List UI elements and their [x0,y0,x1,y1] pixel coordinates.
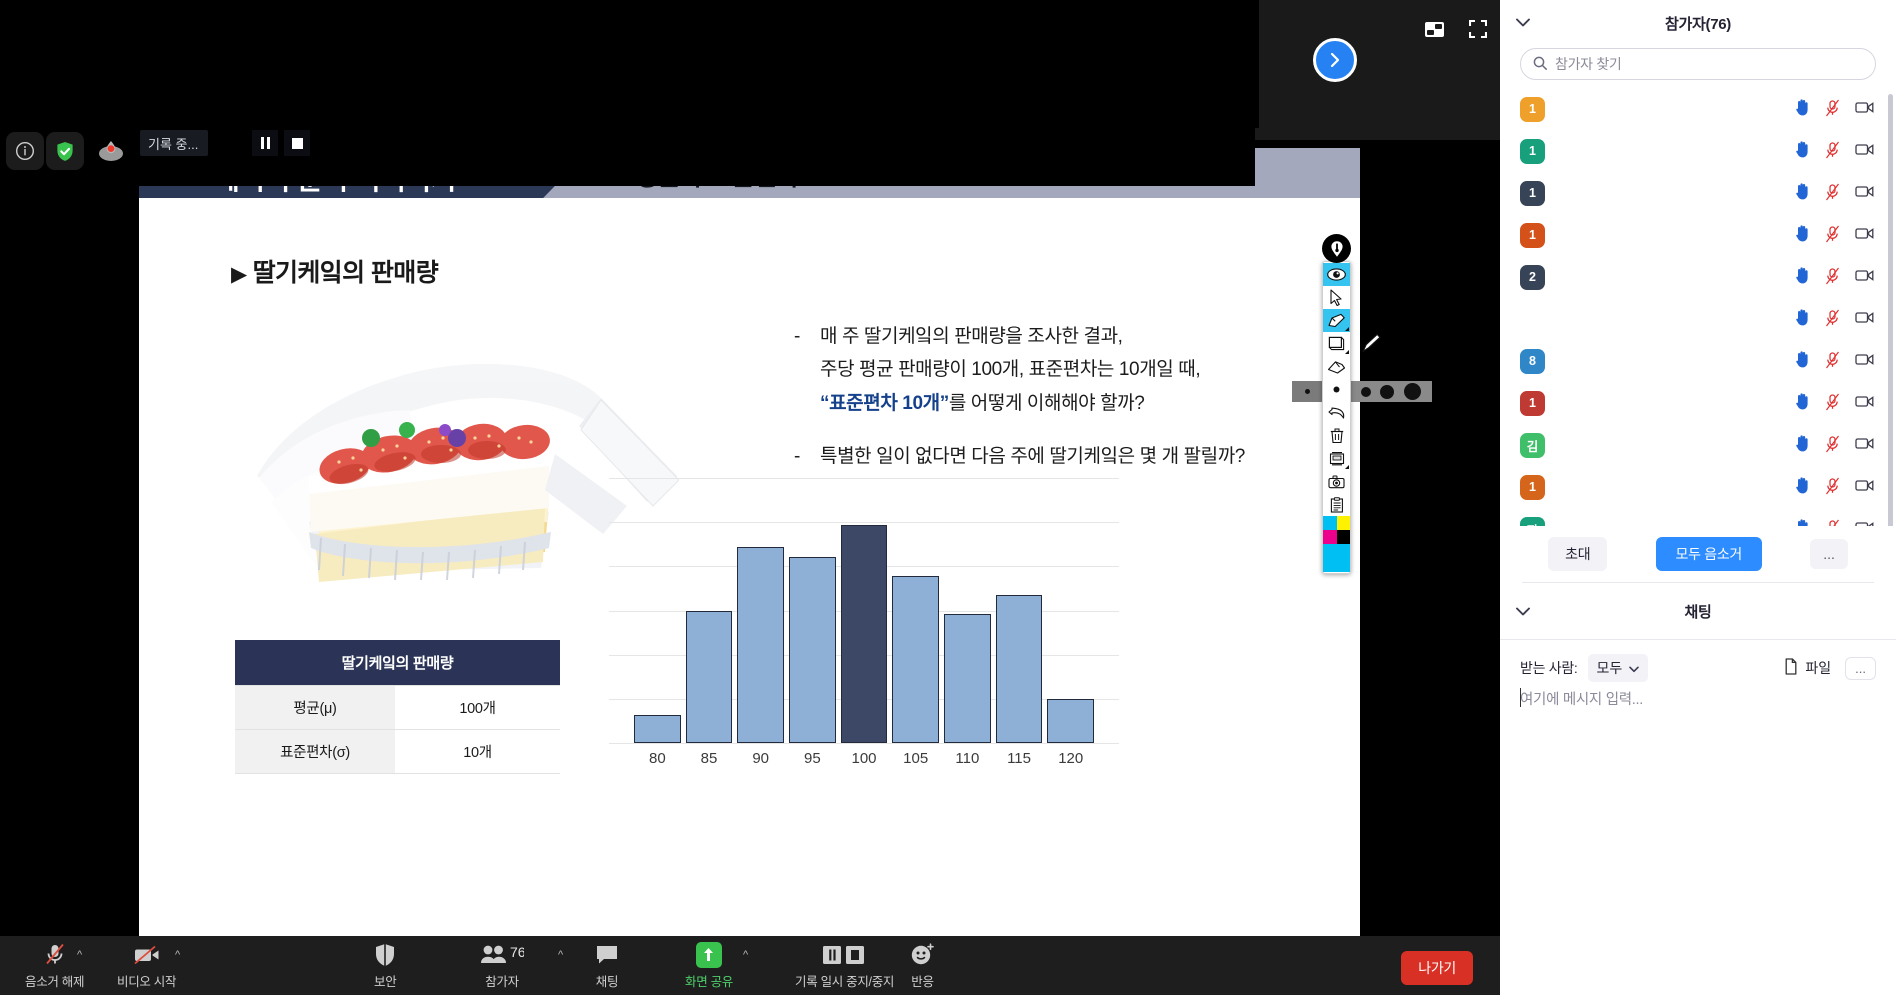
participant-row[interactable]: 1 [1500,382,1896,424]
avatar: 2 [1520,265,1545,290]
participant-status-icons [1795,309,1874,330]
chat-more-button[interactable]: ... [1845,657,1876,680]
chevron-up-icon[interactable]: ^ [175,949,180,961]
swatch-current[interactable] [1323,544,1350,572]
chart-x-tick: 85 [686,750,733,767]
chevron-down-icon[interactable] [1516,603,1530,619]
participant-row[interactable]: 김 [1500,424,1896,466]
meeting-control-bar: 음소거 해제 ^ 비디오 시작 ^ 보안 76 참가자 [0,936,1500,995]
dot-size-icon[interactable] [1323,378,1350,401]
table-cell-value: 10개 [395,730,560,774]
control-participants-label: 참가자 [485,971,519,990]
raised-hand-icon[interactable] [1795,99,1810,119]
table-row: 표준편차(σ) 10개 [235,730,560,774]
participant-status-icons [1795,351,1874,372]
slide-heading-text: 딸기케잌의 판매량 [253,259,439,287]
avatar: 1 [1520,97,1545,122]
annotation-toolbar[interactable] [1322,261,1351,574]
raised-hand-icon[interactable] [1795,351,1810,371]
avatar: 1 [1520,181,1545,206]
chart-x-tick: 100 [841,750,888,767]
emphasis-text: “표준편차 10개” [820,393,949,414]
participant-status-icons [1795,99,1874,120]
table-row: 평균(μ) 100개 [235,686,560,730]
participant-row[interactable]: 1 [1500,88,1896,130]
avatar: 8 [1520,349,1545,374]
chat-message-input[interactable]: 여기에 메시지 입력... [1500,682,1896,715]
chevron-down-icon [1345,350,1349,354]
search-input[interactable]: 참가자 찾기 [1520,48,1876,80]
annotation-pen-logo-icon[interactable] [1322,234,1351,263]
mic-muted-icon[interactable] [1825,309,1840,330]
participant-status-icons [1795,393,1874,414]
participant-row[interactable]: 장 [1500,508,1896,526]
control-video-label: 비디오 시작 [117,971,176,990]
info-icon[interactable] [6,132,44,170]
chat-input-placeholder: 여기에 메시지 입력... [1520,692,1643,708]
chat-recipient-bar: 받는 사람: 모두 파일 ... [1500,639,1896,682]
chart-x-tick: 80 [634,750,681,767]
chart-bar [996,595,1043,743]
fullscreen-icon[interactable] [1463,16,1493,42]
meeting-stage: 기록 중... 평균과 표준편차 데이터 분석 리터러시 ▶딸기케잌의 판매량 [0,0,1500,995]
control-participants[interactable]: 76 참가자 ^ [480,941,524,991]
clipboard-icon[interactable] [1323,493,1350,516]
chart-bar [944,614,991,743]
camera-icon[interactable] [1323,470,1350,493]
participant-status-icons [1795,183,1874,204]
chat-header: 채팅 [1500,583,1896,639]
sales-distribution-chart: 80859095100105110115120 [609,478,1119,743]
chat-to-label: 받는 사람: [1520,658,1578,678]
participant-status-icons [1795,477,1874,498]
body-line: 매 주 딸기케잌의 판매량을 조사한 결과, [820,320,1200,353]
control-mute[interactable]: 음소거 해제 ^ [25,941,84,991]
participant-row[interactable]: 1 [1500,130,1896,172]
camera-off-icon[interactable] [1855,311,1874,327]
camera-off-icon[interactable] [1855,521,1874,526]
chevron-down-icon [1345,465,1349,469]
chat-recipient-select[interactable]: 모두 [1588,654,1649,682]
select-arrow-icon[interactable] [1323,286,1350,309]
shape-rectangle-icon[interactable] [1323,332,1350,355]
control-recording[interactable]: 기록 일시 중지/중지 [795,941,894,991]
camera-off-icon[interactable] [1855,101,1874,117]
participant-row[interactable]: 2 [1500,256,1896,298]
table-title: 딸기케잌의 판매량 [235,640,560,686]
swatch-cyan[interactable] [1323,516,1337,530]
pause-icon[interactable] [252,130,278,156]
body-line-emphasis: “표준편차 10개”를 어떻게 이해해야 할까? [820,387,1200,420]
participant-row[interactable]: 1 [1500,214,1896,256]
chart-bar [841,525,888,743]
table-cell-value: 100개 [395,686,560,730]
control-share-screen[interactable]: 화면 공유 ^ [685,941,733,991]
mic-muted-icon[interactable] [1825,225,1840,246]
control-video[interactable]: 비디오 시작 ^ [117,941,176,991]
chart-bar [892,576,939,743]
participants-icon: 76 [480,941,524,968]
triangle-marker-icon: ▶ [231,263,247,286]
participant-status-icons [1795,519,1874,527]
chart-bar [686,611,733,744]
body-line: 특별한 일이 없다면 다음 주에 딸기케잌은 몇 개 팔릴까? [820,440,1245,473]
mic-muted-icon[interactable] [1825,141,1840,162]
color-swatches-icon[interactable] [1323,516,1350,572]
raised-hand-icon[interactable] [1795,309,1810,329]
chat-recipient-value: 모두 [1597,658,1623,678]
table-cell-label: 평균(μ) [235,686,395,730]
swatch-magenta[interactable] [1323,530,1337,544]
security-shield-icon [374,941,396,968]
camera-off-icon[interactable] [1855,395,1874,411]
pen-draw-icon[interactable] [1323,309,1350,332]
mic-muted-icon[interactable] [1825,351,1840,372]
mic-muted-icon[interactable] [1825,267,1840,288]
stop-icon[interactable] [284,130,310,156]
participant-row[interactable]: 1 [1500,172,1896,214]
raised-hand-icon[interactable] [1795,183,1810,203]
avatar: 1 [1520,223,1545,248]
body-paragraph-1: - 매 주 딸기케잌의 판매량을 조사한 결과, 주당 평균 판매량이 100개… [794,320,1324,420]
control-security[interactable]: 보안 [374,941,396,991]
recording-dot-icon [92,132,130,170]
participants-header: 참가자(76) [1500,0,1896,46]
raised-hand-icon[interactable] [1795,519,1810,526]
mic-muted-icon[interactable] [1825,99,1840,120]
raised-hand-icon[interactable] [1795,225,1810,245]
avatar: 1 [1520,475,1545,500]
self-view-thumbnail[interactable] [1255,0,1500,140]
participant-row[interactable]: 8 [1500,340,1896,382]
camera-off-icon[interactable] [1855,143,1874,159]
recording-pause-stop-icon [821,941,869,968]
chart-bars [634,478,1094,743]
control-chat-label: 채팅 [596,971,618,990]
meeting-status-bar: 기록 중... [0,128,1255,186]
raised-hand-icon[interactable] [1795,393,1810,413]
participant-status-icons [1795,267,1874,288]
mute-all-button[interactable]: 모두 음소거 [1656,537,1763,571]
control-reactions[interactable]: 반응 [910,941,935,991]
stats-table: 딸기케잌의 판매량 평균(μ) 100개 표준편차(σ) 10개 [235,640,560,774]
participant-status-icons [1795,435,1874,456]
chevron-up-icon[interactable]: ^ [558,949,563,961]
chart-x-tick: 90 [737,750,784,767]
control-mute-label: 음소거 해제 [25,971,84,990]
raised-hand-icon[interactable] [1795,267,1810,287]
search-icon [1533,56,1547,73]
body-line: 주당 평균 판매량이 100개, 표준편차는 10개일 때, [820,353,1200,386]
slide-heading: ▶딸기케잌의 판매량 [231,253,438,289]
search-placeholder: 참가자 찾기 [1555,54,1622,74]
chart-bar [634,715,681,743]
spotlight-eye-icon[interactable] [1323,263,1350,286]
mic-muted-icon[interactable] [1825,477,1840,498]
control-recording-label: 기록 일시 중지/중지 [795,971,894,990]
raised-hand-icon[interactable] [1795,477,1810,497]
chart-bar [789,557,836,743]
chart-bar [1047,699,1094,743]
participant-row[interactable] [1500,298,1896,340]
control-share-label: 화면 공유 [685,971,733,990]
chart-x-tick: 95 [789,750,836,767]
chart-x-axis-labels: 80859095100105110115120 [634,743,1094,767]
picture-in-picture-icon[interactable] [1419,16,1449,42]
annotation-cursor-icon [1362,333,1384,358]
text-caret [1520,688,1521,707]
chart-x-tick: 105 [892,750,939,767]
camera-off-icon[interactable] [1855,227,1874,243]
slide-body-text: - 매 주 딸기케잌의 판매량을 조사한 결과, 주당 평균 판매량이 100개… [794,320,1324,481]
eraser-icon[interactable] [1323,355,1350,378]
undo-arrow-icon[interactable] [1323,401,1350,424]
shared-slide: 평균과 표준편차 데이터 분석 리터러시 ▶딸기케잌의 판매량 [139,148,1360,936]
mic-muted-icon[interactable] [1825,435,1840,456]
recording-label: 기록 중... [140,130,208,156]
chart-bar [737,547,784,743]
chart-x-tick: 115 [996,750,1043,767]
chat-file-label: 파일 [1805,658,1831,678]
avatar: 1 [1520,139,1545,164]
share-screen-icon [696,941,722,968]
swatch-black[interactable] [1337,530,1351,544]
chat-file-button[interactable]: 파일 [1784,658,1831,678]
chevron-down-icon [1629,660,1639,676]
shield-check-icon[interactable] [46,132,84,170]
chart-x-tick: 110 [944,750,991,767]
mic-muted-icon [43,941,67,968]
camera-off-icon[interactable] [1855,437,1874,453]
participants-title: 참가자(76) [1665,13,1731,34]
camera-off-icon[interactable] [1855,185,1874,201]
chevron-down-icon [1345,327,1349,331]
control-chat[interactable]: 채팅 [595,941,619,991]
mic-muted-icon[interactable] [1825,393,1840,414]
mic-muted-icon[interactable] [1825,183,1840,204]
participants-scrollbar[interactable] [1888,94,1893,526]
avatar: 장 [1520,517,1545,527]
pen-size-options[interactable] [1350,381,1432,402]
table-header-row: 딸기케잌의 판매량 [235,640,560,686]
body-lines-1: 매 주 딸기케잌의 판매량을 조사한 결과, 주당 평균 판매량이 100개, … [820,320,1200,420]
chevron-up-icon[interactable]: ^ [743,949,748,961]
reactions-icon [910,941,935,968]
body-paragraph-2: - 특별한 일이 없다면 다음 주에 딸기케잌은 몇 개 팔릴까? [794,440,1324,473]
control-reactions-label: 반응 [911,971,933,990]
save-disk-icon[interactable] [1323,447,1350,470]
self-view-edge [1255,0,1259,128]
table-cell-label: 표준편차(σ) [235,730,395,774]
raised-hand-icon[interactable] [1795,435,1810,455]
raised-hand-icon[interactable] [1795,141,1810,161]
avatar: 김 [1520,433,1545,458]
participant-status-icons [1795,225,1874,246]
chevron-up-icon[interactable]: ^ [77,949,82,961]
dash-marker: - [794,440,820,473]
swatch-yellow[interactable] [1337,516,1351,530]
leave-meeting-button[interactable]: 나가기 [1401,951,1473,985]
emphasis-suffix: 를 어떻게 이해해야 할까? [949,393,1145,414]
mic-muted-icon[interactable] [1825,519,1840,527]
chat-title: 채팅 [1684,601,1711,622]
chat-bubble-icon [595,941,619,968]
file-icon [1784,658,1798,678]
pen-size-handle-left[interactable] [1292,381,1323,402]
next-participant-button[interactable] [1313,38,1357,82]
dash-marker: - [794,320,820,420]
participants-more-button[interactable]: ... [1810,539,1848,569]
video-off-icon [133,941,161,968]
avatar: 1 [1520,391,1545,416]
side-panel: 참가자(76) 참가자 찾기 1111281김1장 초대 모두 음소거 ... … [1500,0,1896,995]
chevron-down-icon[interactable] [1516,14,1530,30]
svg-text:76: 76 [510,944,524,960]
camera-off-icon[interactable] [1855,353,1874,369]
chart-x-tick: 120 [1047,750,1094,767]
participant-row[interactable]: 1 [1500,466,1896,508]
trash-icon[interactable] [1323,424,1350,447]
camera-off-icon[interactable] [1855,269,1874,285]
participants-list[interactable]: 1111281김1장 [1500,88,1896,526]
avatar [1520,307,1545,332]
participants-actions: 초대 모두 음소거 ... [1500,526,1896,582]
invite-button[interactable]: 초대 [1548,537,1607,571]
participant-status-icons [1795,141,1874,162]
control-security-label: 보안 [374,971,396,990]
camera-off-icon[interactable] [1855,479,1874,495]
body-lines-2: 특별한 일이 없다면 다음 주에 딸기케잌은 몇 개 팔릴까? [820,440,1245,473]
